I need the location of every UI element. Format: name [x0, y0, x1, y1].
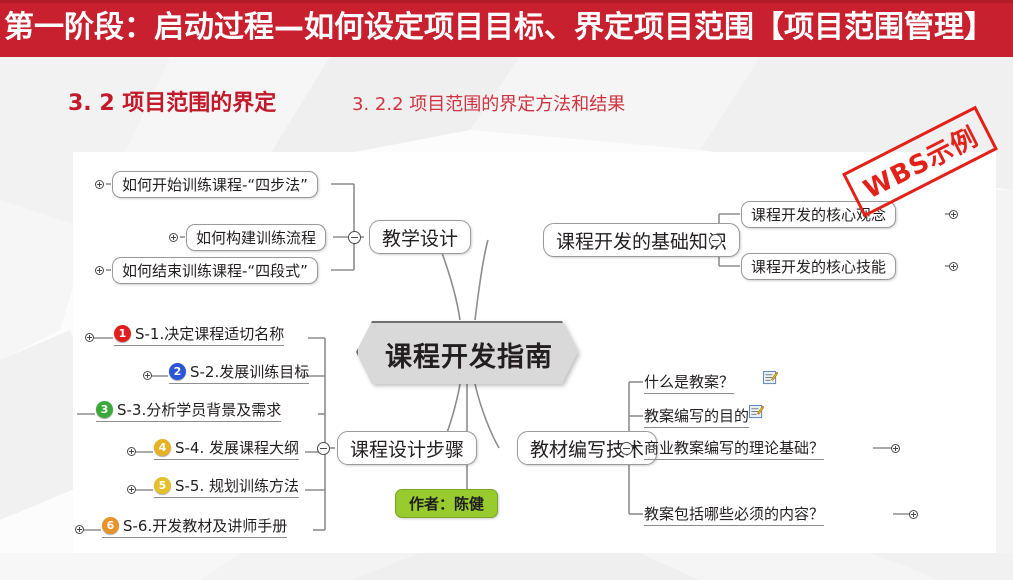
expand-toggle-start-training[interactable] [95, 180, 104, 189]
section-heading: 3. 2 项目范围的界定 [68, 85, 276, 117]
expand-toggle-s6[interactable] [75, 525, 84, 534]
number-badge-1: 1 [114, 325, 131, 342]
numbered-item-s3-label: S-3.分析学员背景及需求 [117, 399, 281, 420]
numbered-item-s4-label: S-4. 发展课程大纲 [175, 437, 299, 458]
collapse-toggle-course-dev-basics[interactable] [709, 234, 722, 247]
expand-toggle-build-flow[interactable] [169, 233, 178, 242]
collapse-toggle-design-steps[interactable] [317, 442, 330, 455]
collapse-toggle-material-writing[interactable] [620, 442, 633, 455]
branch-node-instructional-design[interactable]: 教学设计 [369, 220, 471, 254]
note-icon-what-is-lesson-plan [763, 371, 778, 385]
expand-toggle-theory-basis[interactable] [891, 444, 900, 453]
collapse-toggle-instructional-design[interactable] [348, 231, 361, 244]
branch-node-design-steps[interactable]: 课程设计步骤 [337, 431, 477, 465]
leaf-node-start-training[interactable]: 如何开始训练课程-“四步法” [112, 171, 318, 198]
numbered-item-s3[interactable]: 3 S-3.分析学员背景及需求 [96, 399, 281, 422]
note-icon-purpose-of-lesson-plan [749, 405, 764, 419]
page-title: 第一阶段：启动过程—如何设定项目目标、界定项目范围【项目范围管理】 [4, 8, 994, 48]
numbered-item-s2[interactable]: 2 S-2.发展训练目标 [169, 361, 309, 384]
expand-toggle-s2[interactable] [143, 371, 152, 380]
numbered-item-s4[interactable]: 4 S-4. 发展课程大纲 [154, 437, 299, 460]
expand-toggle-s1[interactable] [85, 333, 94, 342]
expand-toggle-s4[interactable] [127, 447, 136, 456]
numbered-item-s2-label: S-2.发展训练目标 [190, 361, 309, 382]
slide-title-bar: 第一阶段：启动过程—如何设定项目目标、界定项目范围【项目范围管理】 [0, 0, 1013, 57]
leaf-node-end-training[interactable]: 如何结束训练课程-“四段式” [112, 257, 318, 284]
leaf-item-theory-basis[interactable]: 商业教案编写的理论基础？ [644, 437, 824, 460]
numbered-item-s1[interactable]: 1 S-1.决定课程适切名称 [114, 323, 284, 346]
expand-toggle-core-skills[interactable] [949, 262, 958, 271]
branch-node-material-writing[interactable]: 教材编写技术 [517, 431, 657, 465]
number-badge-5: 5 [154, 477, 171, 494]
number-badge-3: 3 [96, 401, 113, 418]
numbered-item-s1-label: S-1.决定课程适切名称 [135, 323, 284, 344]
numbered-item-s5[interactable]: 5 S-5. 规划训练方法 [154, 475, 299, 498]
center-node-course-dev-guide[interactable]: 课程开发指南 [356, 321, 582, 388]
expand-toggle-core-concepts[interactable] [949, 210, 958, 219]
leaf-item-what-is-lesson-plan[interactable]: 什么是教案？ [644, 371, 734, 394]
expand-toggle-required-content[interactable] [909, 510, 918, 519]
leaf-node-core-skills[interactable]: 课程开发的核心技能 [741, 253, 896, 280]
numbered-item-s5-label: S-5. 规划训练方法 [175, 475, 299, 496]
mindmap-panel: 教学设计 如何开始训练课程-“四步法” 如何构建训练流程 如何结束训练课程-“四… [73, 152, 996, 553]
number-badge-6: 6 [102, 517, 119, 534]
expand-toggle-end-training[interactable] [95, 266, 104, 275]
number-badge-4: 4 [154, 439, 171, 456]
subsection-heading: 3. 2.2 项目范围的界定方法和结果 [352, 90, 625, 116]
expand-toggle-s5[interactable] [127, 485, 136, 494]
number-badge-2: 2 [169, 363, 186, 380]
numbered-item-s6[interactable]: 6 S-6.开发教材及讲师手册 [102, 515, 287, 538]
leaf-item-required-content[interactable]: 教案包括哪些必须的内容？ [644, 503, 824, 526]
leaf-node-build-flow[interactable]: 如何构建训练流程 [186, 224, 326, 251]
leaf-item-purpose-of-lesson-plan[interactable]: 教案编写的目的 [644, 405, 749, 428]
numbered-item-s6-label: S-6.开发教材及讲师手册 [123, 515, 287, 536]
author-node[interactable]: 作者：陈健 [395, 489, 498, 518]
